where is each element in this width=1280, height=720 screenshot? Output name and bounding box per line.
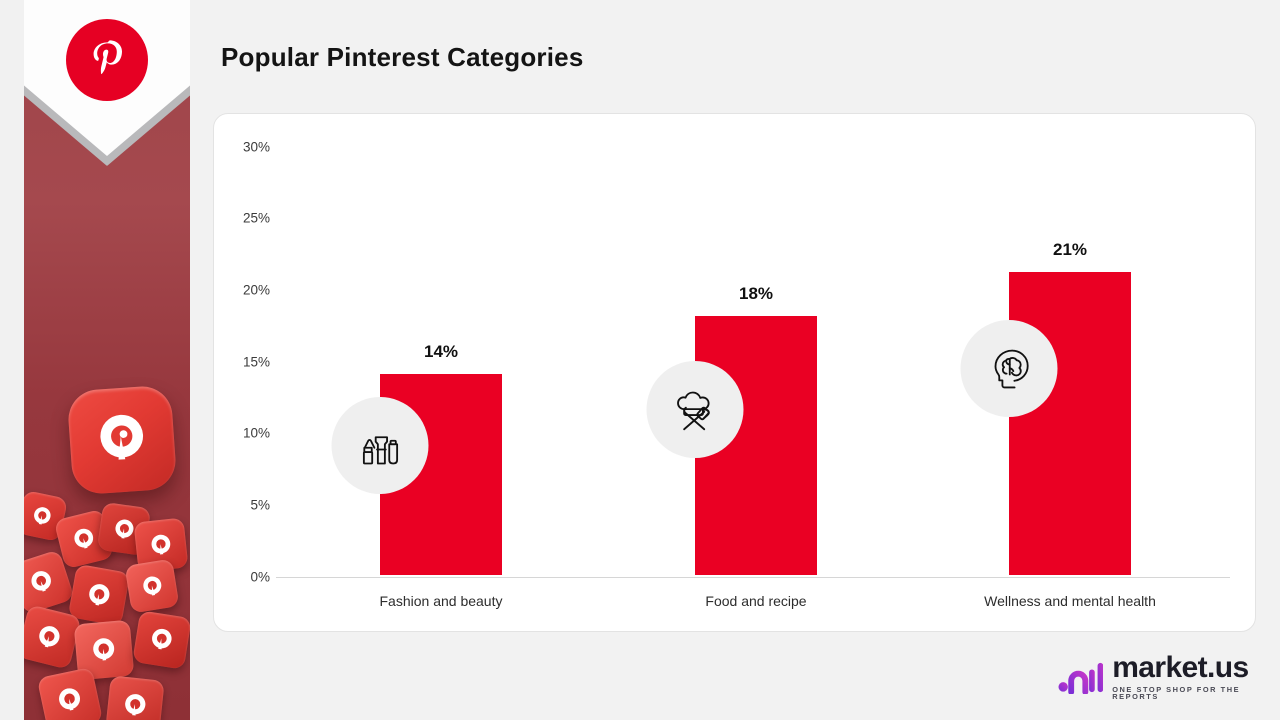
pinterest-app-tile-icon xyxy=(105,675,164,720)
y-axis-tick: 5% xyxy=(250,498,270,513)
y-axis-tick: 30% xyxy=(243,140,270,155)
bar-value-label: 18% xyxy=(695,284,817,304)
y-axis-tick: 25% xyxy=(243,211,270,226)
sidebar-panel xyxy=(24,0,190,720)
bar-value-label: 21% xyxy=(1009,240,1131,260)
chart-card: 30% 25% 20% 15% 10% 5% 0% 14% xyxy=(213,113,1256,632)
pinterest-app-tile-icon xyxy=(125,559,180,614)
cosmetics-icon xyxy=(332,397,429,494)
bar-chart: 30% 25% 20% 15% 10% 5% 0% 14% xyxy=(214,114,1255,631)
pinterest-app-tile-icon xyxy=(132,610,190,669)
brand-tagline: ONE STOP SHOP FOR THE REPORTS xyxy=(1112,686,1280,701)
pinterest-app-tile-icon xyxy=(66,384,177,495)
x-axis-category-label: Food and recipe xyxy=(645,593,867,609)
pinterest-app-tile-icon xyxy=(68,564,131,627)
bar[interactable] xyxy=(1009,272,1131,575)
brand-text: market.us ONE STOP SHOP FOR THE REPORTS xyxy=(1112,653,1280,701)
bar-chart-mark-icon xyxy=(1058,660,1103,694)
y-axis-tick: 10% xyxy=(243,426,270,441)
bar-value-label: 14% xyxy=(380,342,502,362)
decorative-sidebar xyxy=(0,0,190,720)
x-axis-category-label: Wellness and mental health xyxy=(959,593,1181,609)
y-axis-labels: 30% 25% 20% 15% 10% 5% 0% xyxy=(214,114,270,631)
y-axis-tick: 20% xyxy=(243,283,270,298)
page-title: Popular Pinterest Categories xyxy=(221,42,583,73)
main-content: Popular Pinterest Categories 30% 25% 20%… xyxy=(190,0,1280,720)
x-axis-line xyxy=(276,577,1230,578)
pinterest-logo-icon xyxy=(66,19,148,101)
head-brain-icon xyxy=(961,320,1058,417)
y-axis-tick: 0% xyxy=(250,570,270,585)
brand-name: market.us xyxy=(1112,653,1280,683)
x-axis-category-label: Fashion and beauty xyxy=(330,593,552,609)
y-axis-tick: 15% xyxy=(243,355,270,370)
brand-logo: market.us ONE STOP SHOP FOR THE REPORTS xyxy=(1058,653,1280,701)
chef-hat-utensils-icon xyxy=(647,361,744,458)
